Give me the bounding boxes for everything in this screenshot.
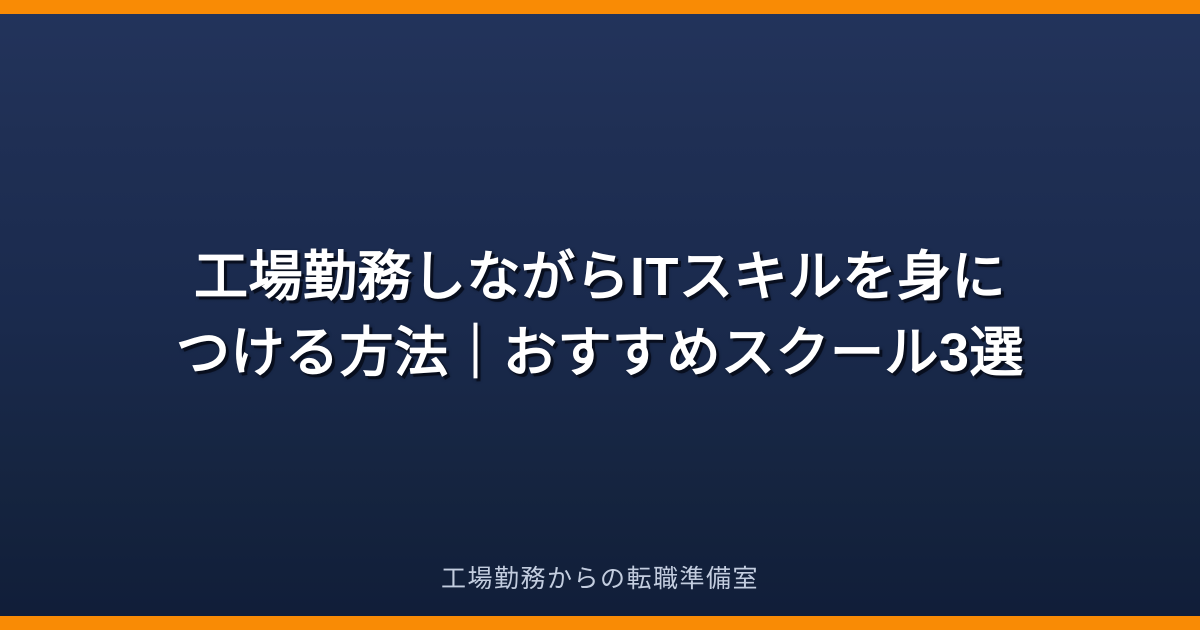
top-accent-bar: [0, 0, 1200, 14]
ogp-card: 工場勤務しながらITスキルを身に つける方法｜おすすめスクール3選 工場勤務から…: [0, 0, 1200, 630]
page-title-line-1: 工場勤務しながらITスキルを身に: [70, 239, 1130, 315]
title-block: 工場勤務しながらITスキルを身に つける方法｜おすすめスクール3選: [0, 0, 1200, 630]
bottom-accent-bar: [0, 616, 1200, 630]
page-title-line-2: つける方法｜おすすめスクール3選: [70, 315, 1130, 391]
site-name: 工場勤務からの転職準備室: [0, 562, 1200, 596]
